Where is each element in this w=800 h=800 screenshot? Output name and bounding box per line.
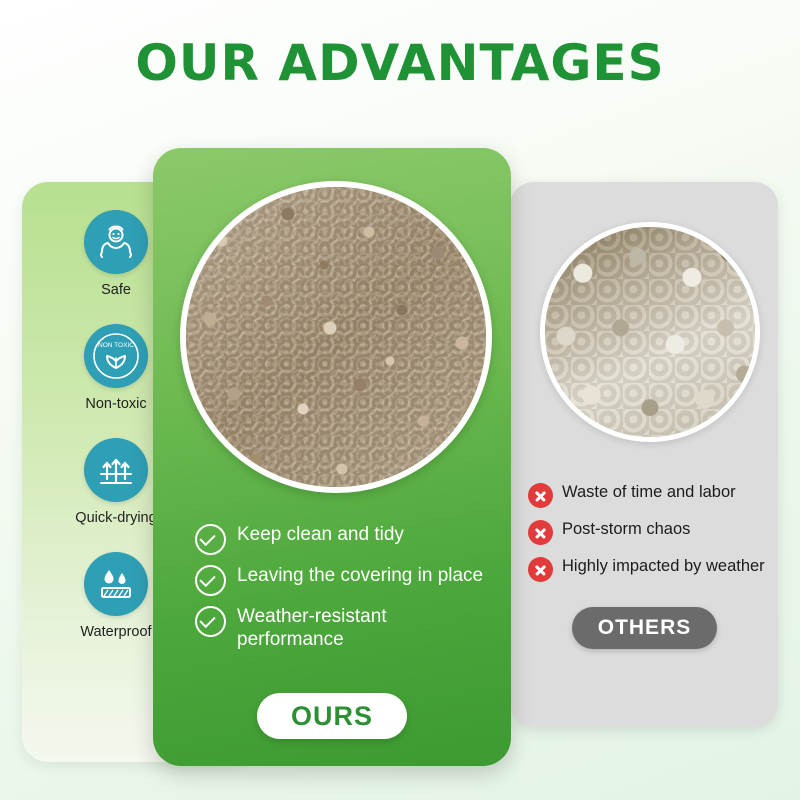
check-circle-icon [195, 606, 226, 637]
cross-circle-icon [528, 483, 553, 508]
page-title: OUR ADVANTAGES [0, 34, 800, 92]
fine-gravel-texture [186, 187, 486, 487]
others-drawback-text: Highly impacted by weather [562, 556, 765, 578]
cross-circle-icon [528, 520, 553, 545]
others-comparison-card: Waste of time and labor Post-storm chaos… [510, 182, 778, 727]
baby-safe-icon [84, 210, 148, 274]
ours-comparison-card: Keep clean and tidy Leaving the covering… [153, 148, 511, 766]
waterproof-droplets-icon [84, 552, 148, 616]
ours-benefit-list: Keep clean and tidy Leaving the covering… [195, 523, 495, 661]
svg-text:NON TOXIC: NON TOXIC [98, 342, 134, 349]
list-item: Highly impacted by weather [528, 556, 778, 581]
others-badge: OTHERS [572, 607, 717, 649]
ours-product-image [180, 181, 492, 493]
non-toxic-leaf-icon: NON TOXIC [84, 324, 148, 388]
list-item: Waste of time and labor [528, 482, 778, 507]
ours-benefit-text: Keep clean and tidy [237, 523, 404, 546]
others-drawback-text: Post-storm chaos [562, 519, 690, 541]
ours-benefit-text: Weather-resistant performance [237, 605, 495, 651]
others-product-image [540, 222, 760, 442]
check-circle-icon [195, 524, 226, 555]
list-item: Keep clean and tidy [195, 523, 495, 554]
ours-benefit-text: Leaving the covering in place [237, 564, 483, 587]
ours-badge: OURS [257, 693, 407, 739]
cross-circle-icon [528, 557, 553, 582]
check-circle-icon [195, 565, 226, 596]
others-drawback-list: Waste of time and labor Post-storm chaos… [528, 482, 778, 593]
list-item: Post-storm chaos [528, 519, 778, 544]
quick-drying-arrows-icon [84, 438, 148, 502]
others-drawback-text: Waste of time and labor [562, 482, 736, 504]
coarse-dirty-gravel-texture [545, 227, 755, 437]
list-item: Weather-resistant performance [195, 605, 495, 651]
list-item: Leaving the covering in place [195, 564, 495, 595]
